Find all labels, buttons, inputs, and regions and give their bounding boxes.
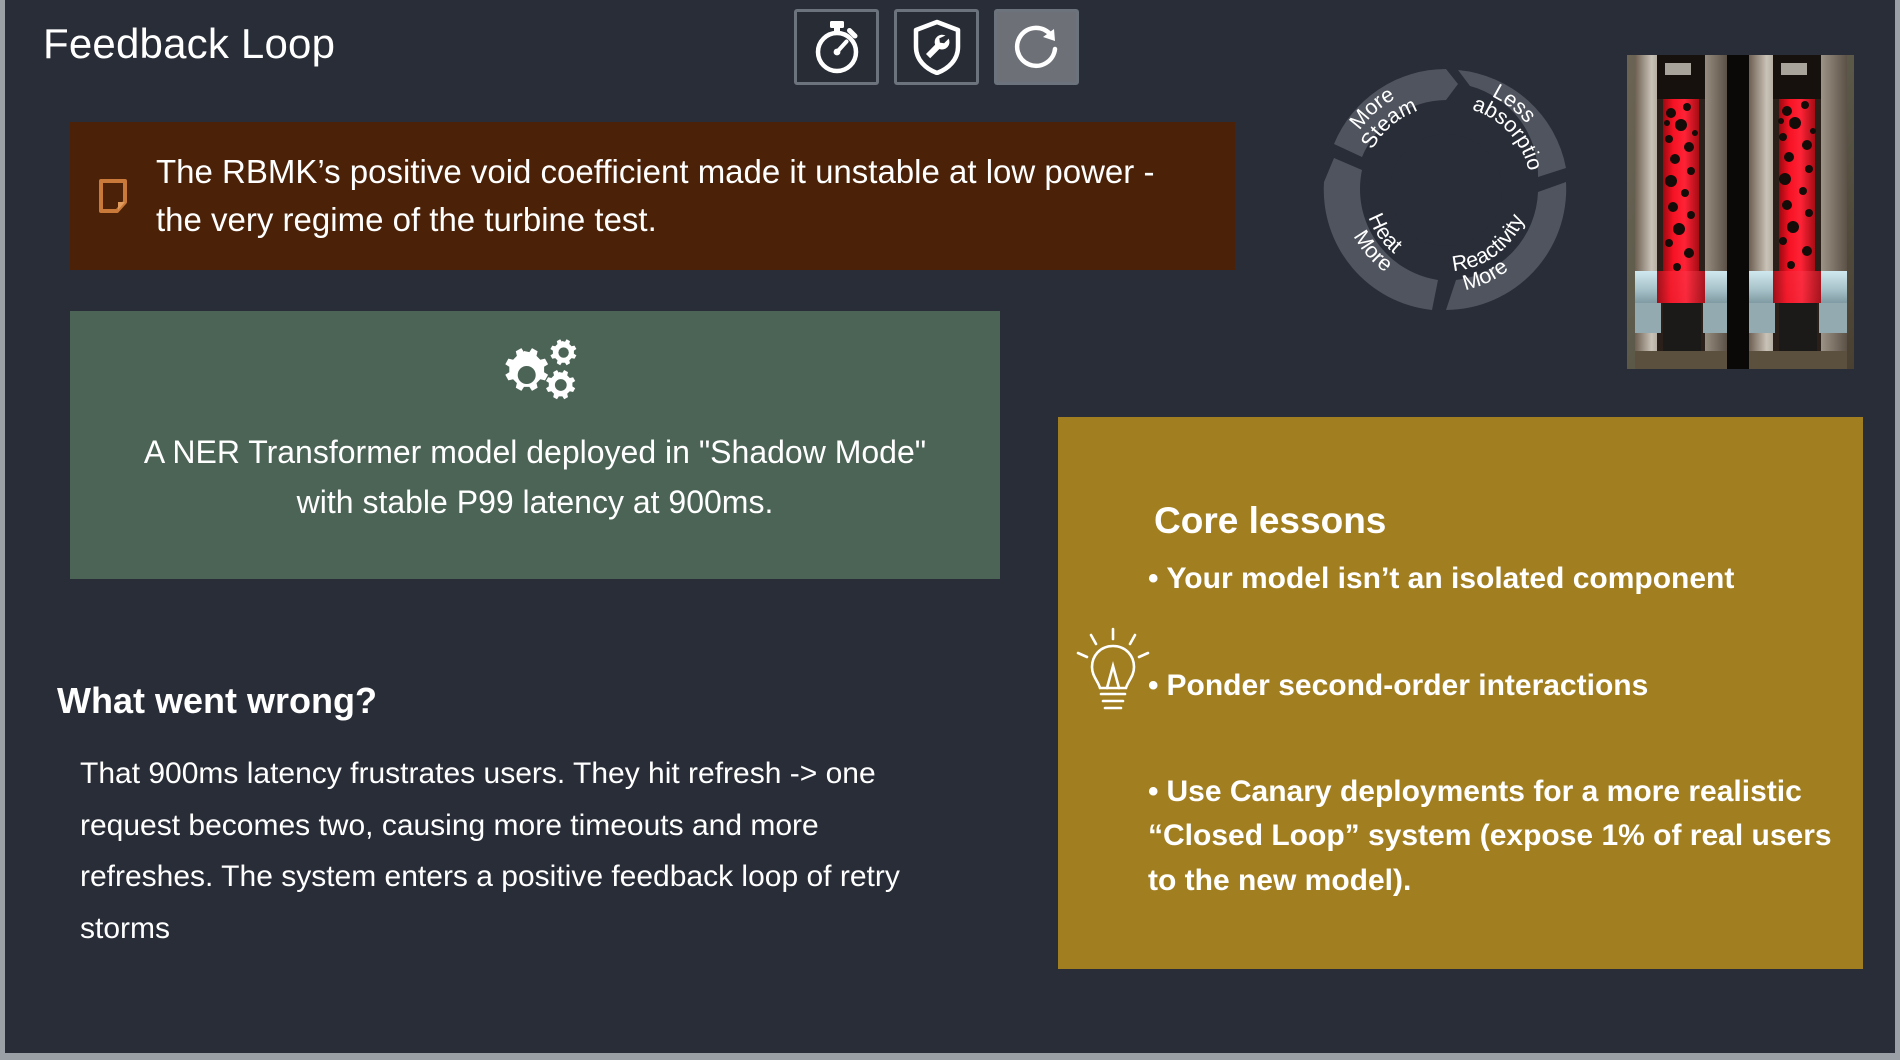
page-title: Feedback Loop (43, 20, 335, 68)
note-icon (70, 178, 156, 214)
lesson-bullet-3: •Use Canary deployments for a more reali… (1148, 770, 1843, 903)
toolbar-button-stopwatch[interactable] (794, 9, 879, 85)
lesson-text: Your model isn’t an isolated component (1167, 562, 1735, 595)
green-panel-line-2: with stable P99 latency at 900ms. (130, 478, 940, 528)
callout-text: The RBMK’s positive void coefficient mad… (156, 148, 1235, 244)
green-panel-text: A NER Transformer model deployed in "Sha… (70, 428, 1000, 527)
green-info-panel: A NER Transformer model deployed in "Sha… (70, 311, 1000, 579)
lesson-bullet-2: •Ponder second-order interactions (1148, 664, 1843, 708)
core-lessons-title: Core lessons (1154, 500, 1386, 542)
stopwatch-icon (811, 19, 863, 75)
green-panel-line-1: A NER Transformer model deployed in "Sha… (130, 428, 940, 478)
core-lessons-panel: Core lessons •Your model isn’t an i (1058, 417, 1863, 969)
gears-icon (70, 339, 1000, 418)
toolbar (794, 9, 1079, 85)
bullet-marker: • (1148, 775, 1159, 808)
what-went-wrong-heading: What went wrong? (57, 680, 377, 722)
what-went-wrong-body: That 900ms latency frustrates users. The… (80, 748, 910, 954)
shield-wrench-icon (911, 19, 963, 75)
test-tube-photo (1627, 55, 1854, 369)
lesson-bullet-1: •Your model isn’t an isolated component (1148, 557, 1843, 601)
slide-canvas: Feedback Loop (0, 0, 1900, 1060)
lightbulb-icon (1074, 626, 1152, 729)
bullet-marker: • (1148, 669, 1159, 702)
cycle-hub (1390, 134, 1502, 246)
toolbar-button-shield-wrench[interactable] (894, 9, 979, 85)
refresh-icon (1010, 19, 1064, 75)
bullet-marker: • (1148, 562, 1159, 595)
feedback-cycle-diagram: More Steam Less absorption More Reactivi… (1298, 42, 1594, 338)
lesson-text: Use Canary deployments for a more realis… (1148, 775, 1832, 897)
callout-box: The RBMK’s positive void coefficient mad… (70, 122, 1235, 270)
test-tube-left (1635, 55, 1727, 369)
lesson-text: Ponder second-order interactions (1167, 669, 1649, 702)
test-tube-right (1749, 55, 1847, 369)
toolbar-button-refresh[interactable] (994, 9, 1079, 85)
